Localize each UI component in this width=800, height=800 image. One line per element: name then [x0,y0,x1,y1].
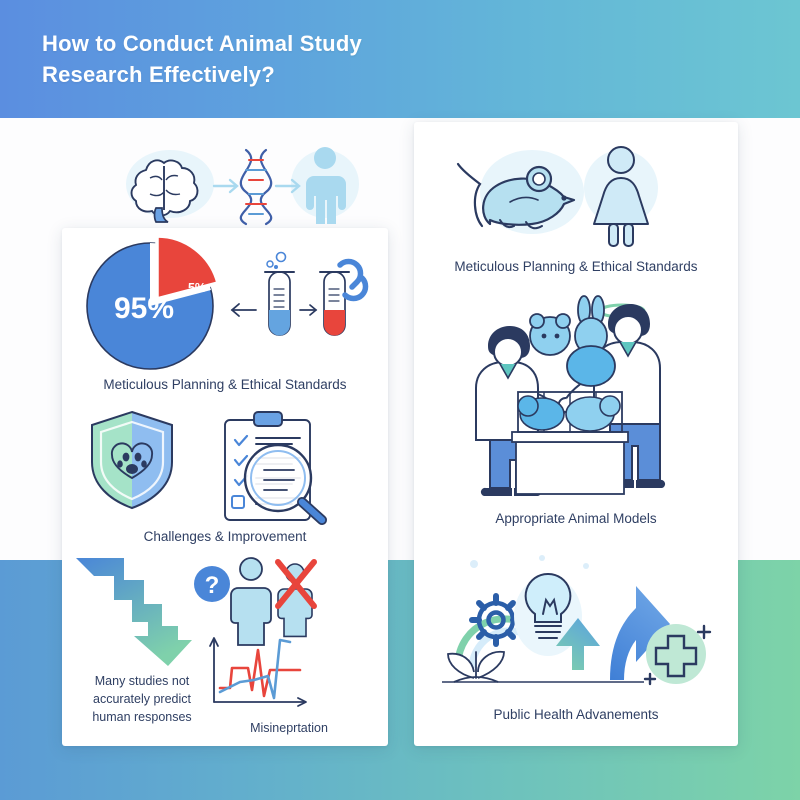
mouse-human-icons [414,140,738,252]
public-health-block-caption: Public Health Advanements [414,706,738,724]
svg-text:?: ? [205,572,220,599]
failure-block: ? [62,550,388,740]
brain-dna-human-flow [120,142,370,232]
failure-block-caption-left: Many studies not accurately predict huma… [62,672,222,726]
public-health-block: Public Health Advanements [414,550,738,730]
animal-models-illustration [414,294,738,514]
pie-block-caption: Meticulous Planning & Ethical Standards [62,376,388,394]
human-figure-crossed-icon [278,562,314,636]
line-chart-icon [210,638,306,706]
pie-label-minor: 5% [188,281,206,295]
sprout-icon [448,652,504,682]
brain-dna-human-icons [120,142,370,232]
page-title: How to Conduct Animal Study Research Eff… [42,28,562,90]
mouse-human-block-caption: Meticulous Planning & Ethical Standards [414,258,738,276]
mouse-human-block: Meticulous Planning & Ethical Standards [414,140,738,280]
arrow-right-icon [214,180,237,192]
arrow-right-icon [300,305,316,315]
animal-models-block-caption: Appropriate Animal Models [414,510,738,528]
test-tube-blue-icon [265,253,294,336]
medical-cross-icon [645,624,710,684]
arrow-right-icon [276,180,299,192]
challenges-icons [62,400,388,522]
right-card[interactable]: Meticulous Planning & Ethical Standards [414,122,738,746]
challenges-block: Challenges & Improvement [62,400,388,540]
pie-chart: 95% 5% [62,234,388,384]
failure-block-caption-right: Misineprtation [214,720,364,737]
left-card[interactable]: 95% 5% [62,228,388,746]
shield-paw-icon [92,412,172,508]
arrow-left-icon [232,304,256,316]
page-title-line-2: Research Effectively? [42,59,562,90]
public-health-illustration [414,550,738,714]
hamster-icon [530,314,570,355]
pie-label-major: 95% [114,292,174,325]
test-tube-red-icon [320,272,349,336]
question-mark-icon: ? [194,566,230,602]
animal-models-block: Appropriate Animal Models [414,294,738,534]
down-arrow-icon [76,558,192,666]
pie-block: 95% 5% [62,234,388,384]
rabbit-icon [567,296,615,386]
human-figure-icon [231,558,271,645]
page-title-line-1: How to Conduct Animal Study [42,28,562,59]
challenges-block-caption: Challenges & Improvement [62,528,388,546]
infographic-canvas: How to Conduct Animal Study Research Eff… [0,0,800,800]
dna-icon [241,150,271,224]
caged-animal-left-icon [518,396,564,430]
